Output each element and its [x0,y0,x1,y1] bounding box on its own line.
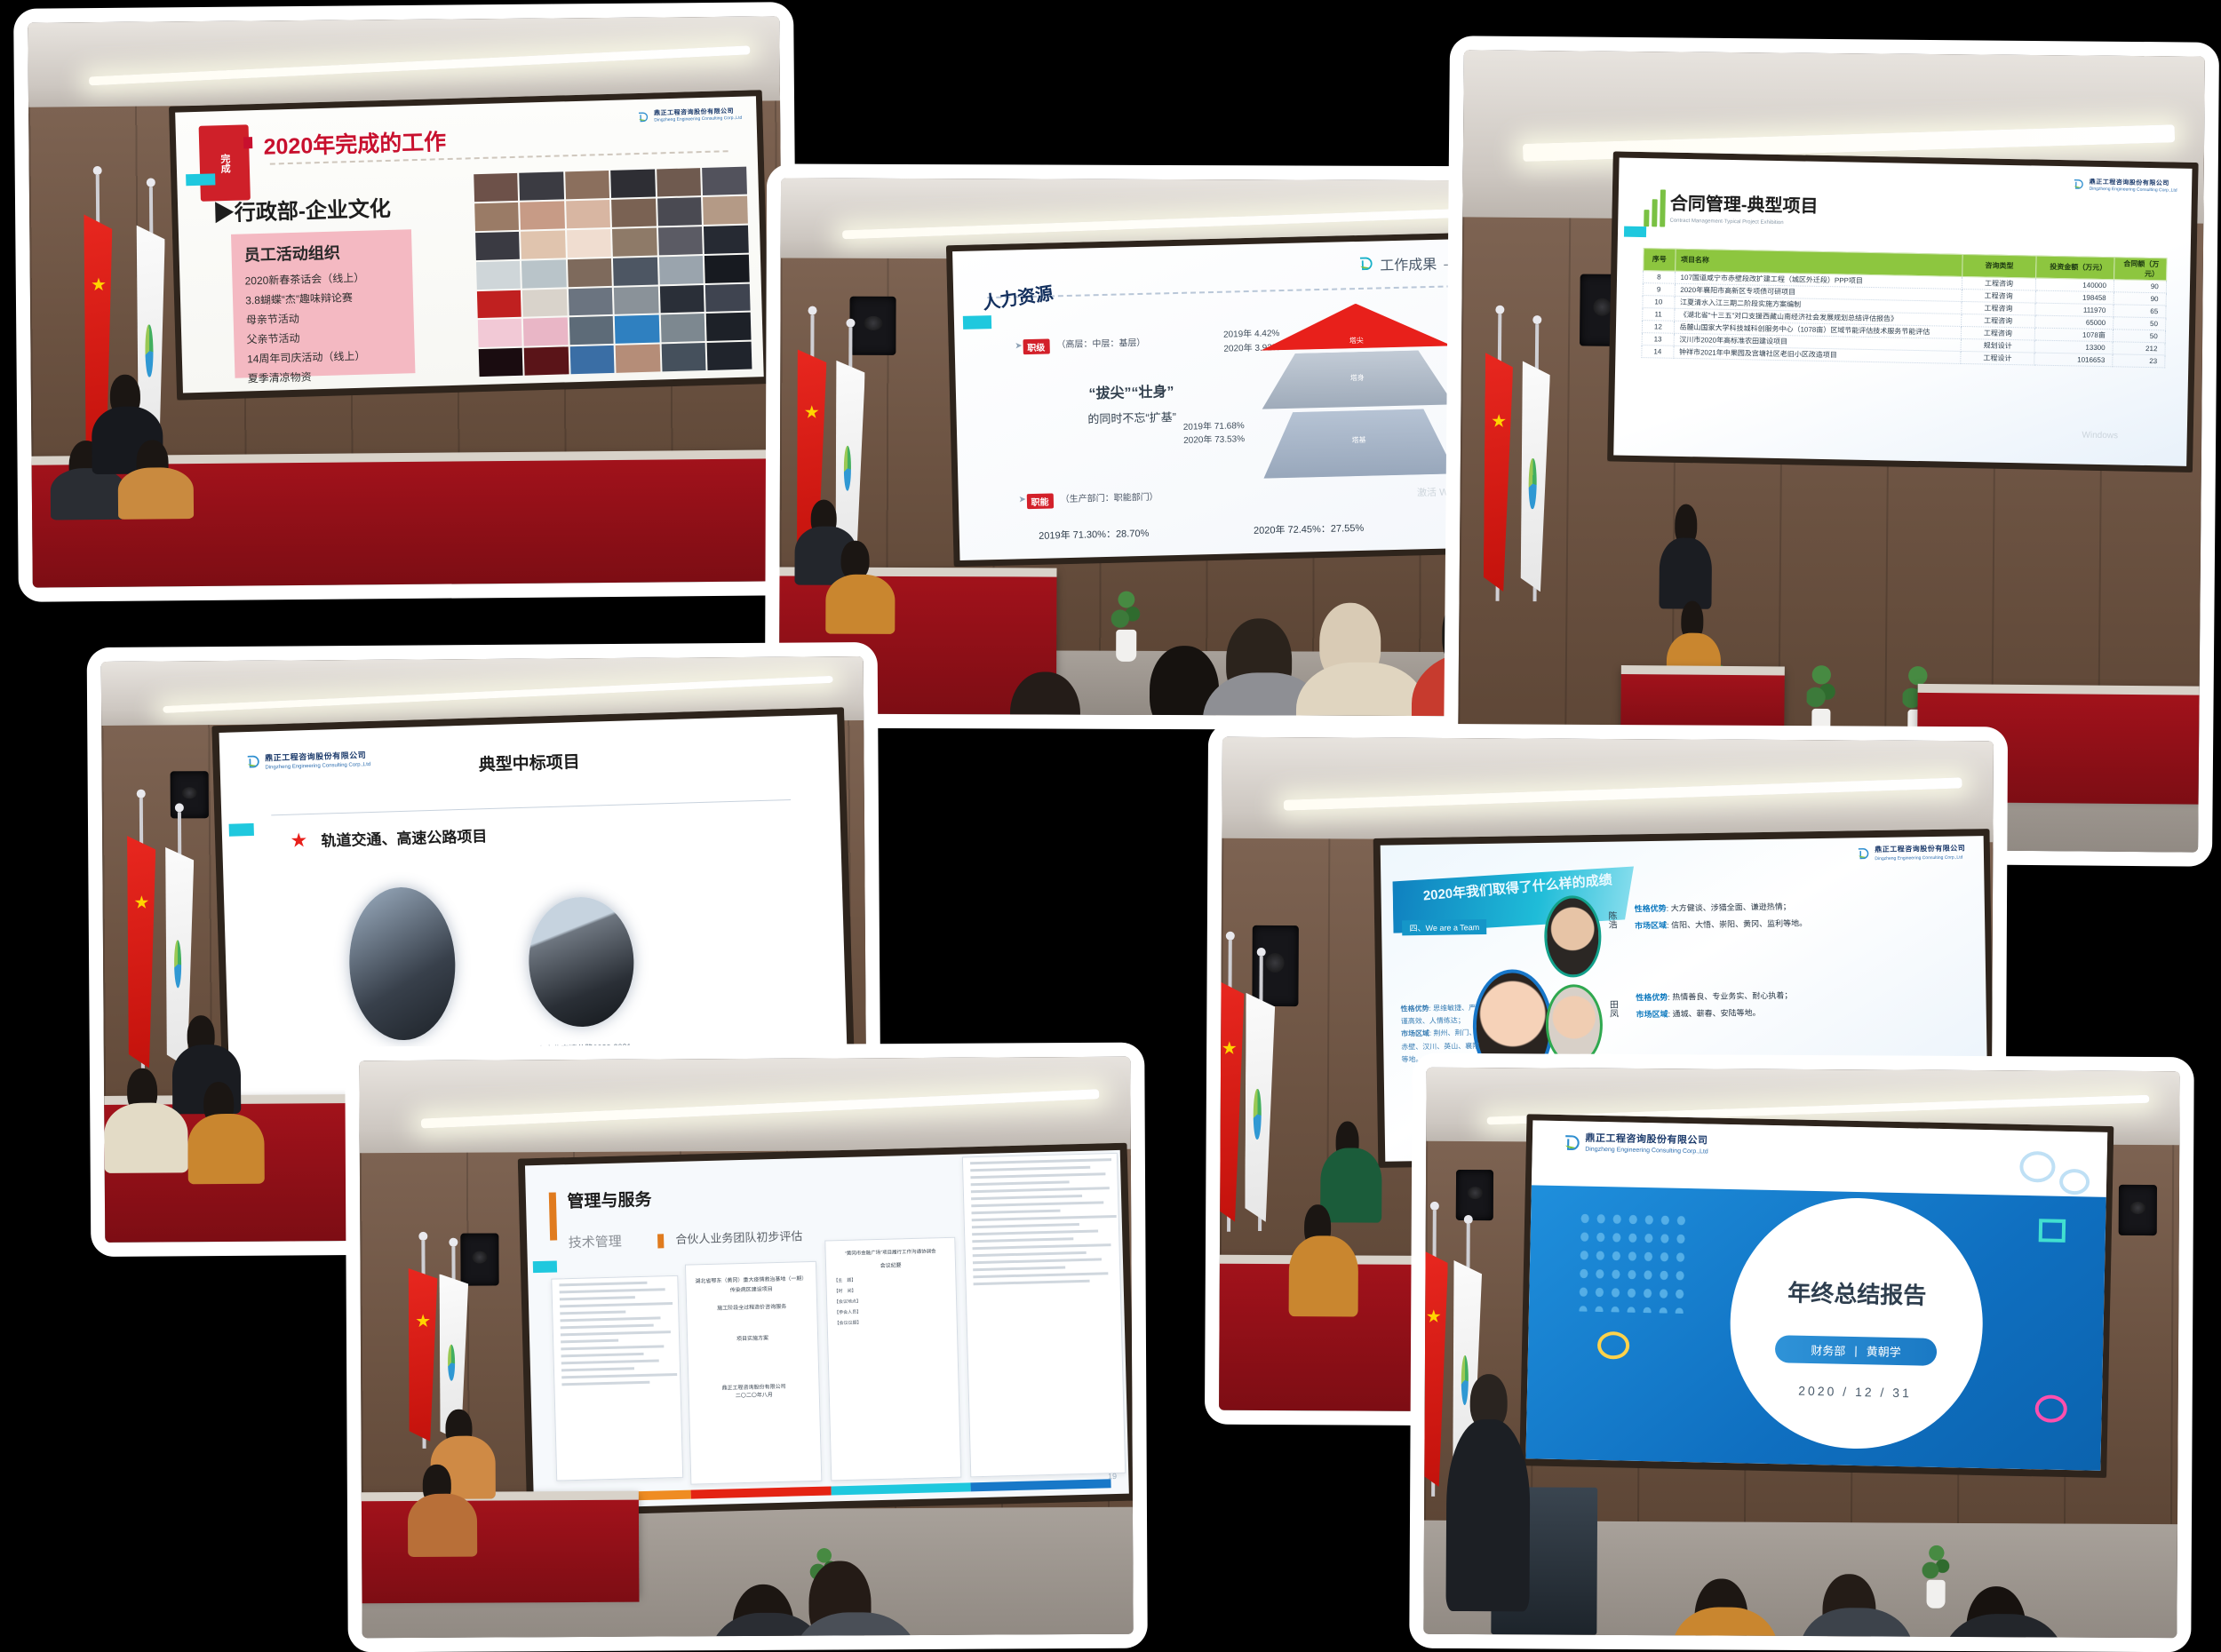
pyramid-level-top: 塔尖 [1260,301,1453,351]
china-national-flag [407,1268,439,1442]
bullet-text: 合伙人业务团队初步评估 [675,1227,802,1247]
person-body [51,468,126,520]
quote-line-1: “拔尖”“壮身” [1035,377,1228,403]
color-segment [832,1482,972,1495]
slide-admin-dept-corporate-culture: 完成 2020年完成的工作 ▶行政部-企业文化 鼎正工程 [175,97,763,393]
doc-evaluation-matrix [963,1153,1126,1477]
slide-header: 2020年完成的工作 [263,125,447,163]
company-flag [1518,361,1550,592]
pyramid-level-middle: 塔身 [1261,350,1454,410]
china-national-flag [1482,353,1514,592]
col-header-type: 咨询类型 [1962,255,2036,279]
cyan-tab-accent [186,173,215,186]
cyan-tab-accent [962,316,991,330]
slide-management-and-service: 管理与服务 技术管理 合伙人业务团队初步评估 [525,1149,1130,1509]
conference-room-scene: 鼎正工程咨询股份有限公司Dingzheng Engineering Consul… [1423,1068,2179,1638]
slide-subtitle: 技术管理 [569,1232,623,1252]
red-seal-icon: 完成 [199,124,251,202]
list-item: 夏季清凉物资 [247,367,402,386]
person-body [118,468,194,520]
ratio-2019: 2019年 71.30%：28.70% [1039,526,1150,543]
dingzheng-leaf-logo-icon [1856,847,1869,861]
member-1-info: 性格优势: 大方健谈、涉猎全面、谦逊热情； 市场区域: 信阳、大悟、崇阳、黄冈、… [1634,899,1807,935]
bullet-square-icon [243,138,252,149]
person-body [188,1114,265,1184]
photo-frame-admin-dept-corporate-culture[interactable]: 完成 2020年完成的工作 ▶行政部-企业文化 鼎正工程 [13,2,799,602]
function-tag: 职能 [1026,493,1053,509]
highway-photo [527,896,636,1029]
author-pill: 财务部 | 黄朝学 [1775,1336,1937,1366]
wall-speaker [2119,1184,2157,1235]
dingzheng-leaf-logo-icon [636,111,649,123]
region-label: 市场区域 [1401,1030,1429,1039]
bar-chart-icon [1644,188,1666,227]
strength-label: 性格优势 [1400,1005,1429,1013]
orange-square-icon [657,1234,665,1248]
slide-quote: “拔尖”“壮身” 的同时不忘“扩基” [1035,377,1229,427]
cyan-tab-accent [533,1261,557,1274]
brand-logo: 鼎正工程咨询股份有限公司Dingzheng Engineering Consul… [1856,846,1965,862]
member-2-info: 性格优势: 热情善良、专业务实、耐心执着； 市场区域: 通城、蕲春、安陆等地。 [1636,988,1793,1024]
typical-projects-table: 序号 项目名称 咨询类型 投资金额（万元） 合同额（万元） 8107国道咸宁市赤… [1641,248,2167,368]
dingzheng-leaf-logo-icon [2072,179,2084,192]
photo-frame-management-and-service[interactable]: 管理与服务 技术管理 合伙人业务团队初步评估 [345,1043,1148,1652]
list-item: 2020新春茶话会（线上） [244,269,400,289]
speaker-table [359,1498,640,1604]
member-name-1: 陈浩 [1604,911,1617,929]
pyramid-level-base: 塔基 [1262,409,1456,479]
conference-room-scene: 管理与服务 技术管理 合伙人业务团队初步评估 [359,1057,1133,1639]
list-item: 父亲节活动 [246,328,402,347]
orange-accent-bar [549,1192,557,1240]
col-header-no: 序号 [1644,249,1676,272]
list-item: 14周年司庆活动（线上） [247,347,402,367]
section-title: 轨道交通、高速公路项目 [321,824,488,852]
decor-dot-grid [1575,1210,1692,1314]
china-national-flag [125,836,157,1068]
person-body [825,575,895,634]
red-star-icon: ★ [290,830,307,854]
person-body [1660,537,1712,609]
rank-note: （高层：中层：基层） [1056,335,1145,350]
slide-title: 管理与服务 [567,1186,652,1211]
slide-title: 典型中标项目 [219,742,839,784]
color-segment [691,1486,832,1498]
photo-collage: 完成 2020年完成的工作 ▶行政部-企业文化 鼎正工程 [0,0,2221,1652]
speaker-body [1446,1418,1530,1611]
col-header-investment: 投资金额（万元） [2035,256,2114,280]
conference-room-scene: 工作成果 —人才配置 人力资源 职级 （高层：中层：基层） ➤ 2019年 4.… [779,178,1552,716]
presenter-name: 黄朝学 [1867,1343,1901,1361]
dingzheng-leaf-logo-icon [1561,1134,1580,1153]
panel-title: 员工活动组织 [243,239,399,266]
photo-wall-mosaic [474,167,752,377]
slide-title: 合同管理-典型项目 [1669,189,1818,218]
person-body [104,1102,188,1172]
projection-screen: 鼎正工程咨询股份有限公司Dingzheng Engineering Consul… [1519,1115,2114,1478]
member-name-2: 田凤 [1605,999,1619,1017]
avatar-member-1 [1543,895,1601,977]
rank-tag: 职级 [1023,339,1049,355]
projection-screen: 管理与服务 技术管理 合伙人业务团队初步评估 [518,1143,1134,1517]
projection-screen: 完成 2020年完成的工作 ▶行政部-企业文化 鼎正工程 [169,90,770,400]
potted-plant [1110,592,1142,661]
list-item: 3.8蝴蝶“杰”趣味辩论赛 [245,289,401,308]
conference-room-scene: 完成 2020年完成的工作 ▶行政部-企业文化 鼎正工程 [28,16,784,587]
slide-subtitle-en: Contract Management·Typical Project Exhi… [1669,218,1783,226]
windows-activation-watermark: Windows [2082,431,2118,441]
brand-logo: 鼎正工程咨询股份有限公司Dingzheng Engineering Consul… [636,108,742,124]
monorail-train-photo [347,886,457,1042]
ratio-2020: 2020年 72.45%：27.55% [1254,521,1365,538]
decor-square [2039,1219,2066,1243]
department-label: 财务部 [1811,1342,1845,1360]
talent-pyramid-chart: 塔尖 塔身 塔基 [1260,301,1456,479]
potted-plant [1921,1546,1951,1608]
brand-logo: 鼎正工程咨询股份有限公司Dingzheng Engineering Consul… [1561,1133,1708,1157]
cyan-tab-accent [228,823,253,837]
col-header-contract: 合同额（万元） [2114,258,2166,281]
wall-speaker [1456,1170,1494,1221]
slide-year-end-summary-report: 鼎正工程咨询股份有限公司Dingzheng Engineering Consul… [1526,1121,2108,1471]
doc-meeting-minutes: “黄冈市金融广场”项目履行工作沟通协调会 会议纪要 【主 题】 【时 间】 【会… [824,1236,962,1481]
projection-screen: 工作成果 —人才配置 人力资源 职级 （高层：中层：基层） ➤ 2019年 4.… [946,232,1532,568]
brand-logo: 鼎正工程咨询股份有限公司Dingzheng Engineering Consul… [2072,179,2177,194]
employee-activity-panel: 员工活动组织 2020新春茶话会（线上） 3.8蝴蝶“杰”趣味辩论赛 母亲节活动… [231,230,415,378]
projection-screen: 鼎正工程咨询股份有限公司Dingzheng Engineering Consul… [1607,152,2198,473]
cyan-tab-accent [1623,226,1646,238]
doc-project-evaluation-form [552,1275,684,1481]
separator: | [1854,1345,1858,1358]
color-segment [971,1479,1111,1491]
china-national-flag [1423,1249,1448,1487]
china-national-flag [1219,980,1245,1222]
dingzheng-leaf-logo-icon [1357,257,1373,273]
list-item: 母亲节活动 [245,308,401,328]
function-note: （生产部门：职能部门） [1060,489,1158,505]
brush-title: 人力资源 [981,279,1055,314]
person-body [1320,1148,1382,1223]
report-title: 年终总结报告 [1747,1275,1967,1312]
section-label: 四、We are a Team [1402,919,1486,935]
person-body [408,1493,477,1557]
slide-contract-management: 鼎正工程咨询股份有限公司Dingzheng Engineering Consul… [1613,158,2192,466]
slide-subtitle: ▶行政部-企业文化 [212,191,391,227]
photo-frame-year-end-summary-report[interactable]: 鼎正工程咨询股份有限公司Dingzheng Engineering Consul… [1409,1053,2193,1652]
page-number: 19 [1108,1472,1117,1481]
person-body [1289,1235,1359,1316]
pyramid-base-2020: 2020年 73.53% [1183,432,1245,447]
slide-hr-talent-allocation: 工作成果 —人才配置 人力资源 职级 （高层：中层：基层） ➤ 2019年 4.… [952,238,1525,560]
wall-speaker [849,296,896,355]
company-flag [1243,993,1275,1222]
doc-implementation-plan: 湖北省鄂东（黄冈）重大疫情救治基地（一期）传染病区建设项目 施工阶段全过程造价咨… [685,1261,822,1485]
